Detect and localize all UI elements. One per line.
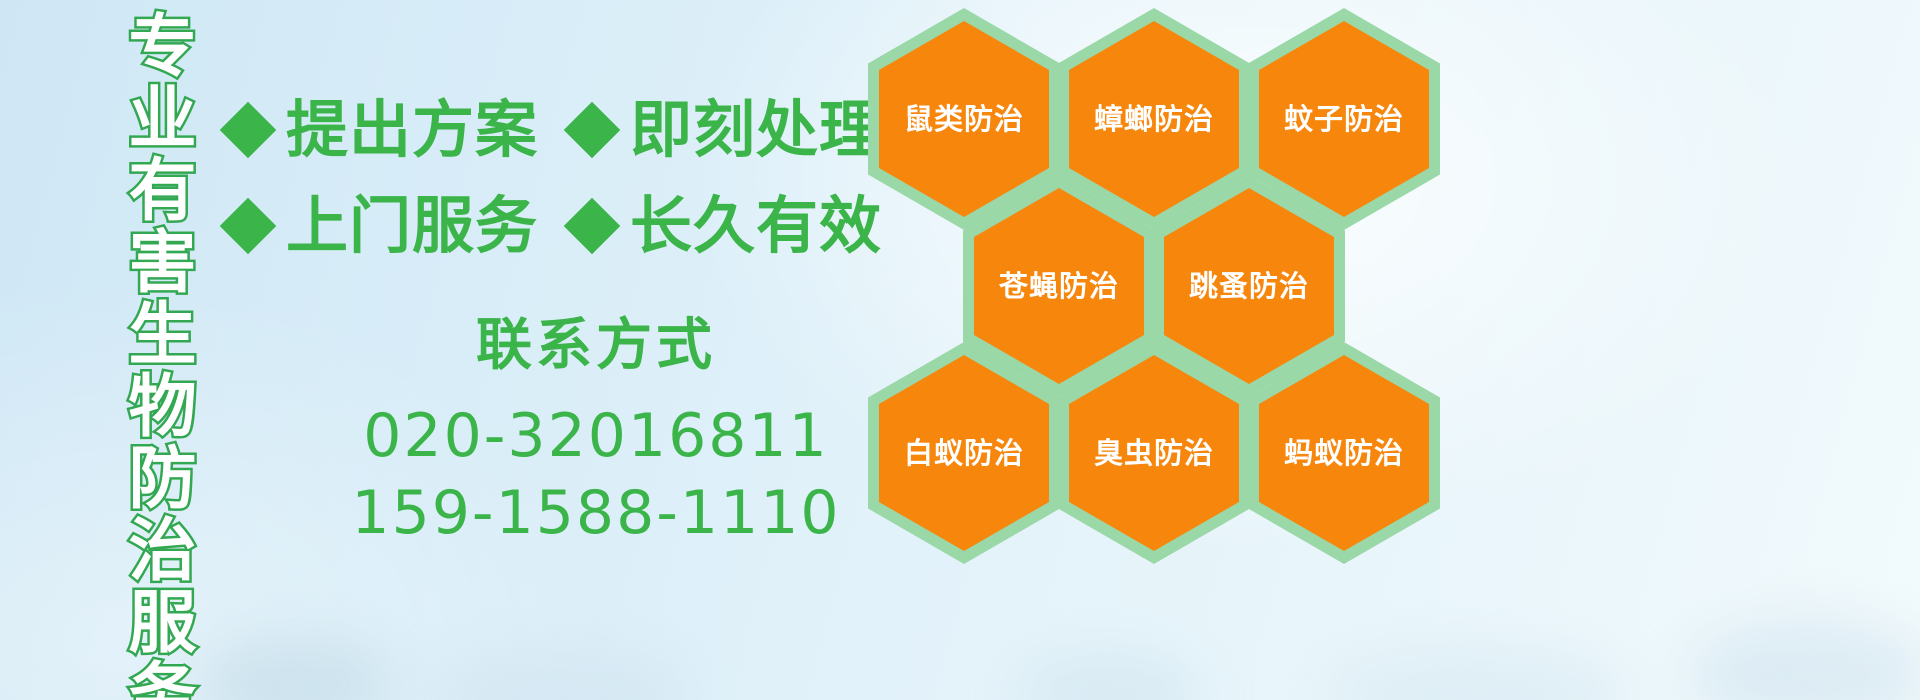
hex-inner: 蚂蚁防治 [1259, 355, 1429, 551]
service-hex-label: 跳蚤防治 [1189, 272, 1309, 301]
feature-label: 上门服务 [286, 195, 538, 257]
phone-number-landline[interactable]: 020-32016811 [316, 398, 876, 475]
diamond-bullet-icon [564, 198, 621, 255]
feature-row: 提出方案 即刻处理 [228, 82, 868, 178]
diamond-bullet-icon [220, 198, 277, 255]
service-hex-label: 蚂蚁防治 [1284, 439, 1404, 468]
service-hex-label: 鼠类防治 [904, 105, 1024, 134]
feature-label: 长久有效 [630, 195, 882, 257]
diamond-bullet-icon [564, 102, 621, 159]
background-blob [200, 640, 390, 700]
vertical-headline: 专业有害生物防治服务 [104, 10, 190, 670]
hex-inner: 鼠类防治 [879, 21, 1049, 217]
hex-inner: 苍蝇防治 [974, 188, 1144, 384]
feature-item: 即刻处理 [572, 99, 882, 161]
phone-number-mobile[interactable]: 159-1588-1110 [316, 475, 876, 552]
hex-inner: 白蚁防治 [879, 355, 1049, 551]
feature-item: 提出方案 [228, 99, 538, 161]
hex-inner: 蚊子防治 [1259, 21, 1429, 217]
service-hex-label: 臭虫防治 [1094, 439, 1214, 468]
background-blob [430, 655, 690, 700]
feature-item: 长久有效 [572, 195, 882, 257]
pest-control-service-banner: 专业有害生物防治服务 提出方案 即刻处理 上门服务 长久有效 联 [0, 0, 1920, 700]
service-hex-label: 蚊子防治 [1284, 105, 1404, 134]
hex-inner: 跳蚤防治 [1164, 188, 1334, 384]
hex-inner: 臭虫防治 [1069, 355, 1239, 551]
feature-label: 即刻处理 [630, 99, 882, 161]
service-honeycomb-grid: 鼠类防治 蟑螂防治 蚊子防治 苍蝇防治 跳蚤防治 白蚁防 [860, 0, 1460, 700]
service-hex-label: 蟑螂防治 [1094, 105, 1214, 134]
feature-list: 提出方案 即刻处理 上门服务 长久有效 [228, 82, 868, 274]
contact-title: 联系方式 [316, 318, 876, 374]
service-hex-label: 苍蝇防治 [999, 272, 1119, 301]
background-blob [1690, 620, 1920, 700]
diamond-bullet-icon [220, 102, 277, 159]
hex-inner: 蟑螂防治 [1069, 21, 1239, 217]
contact-block: 联系方式 020-32016811 159-1588-1110 [316, 318, 876, 552]
feature-item: 上门服务 [228, 195, 538, 257]
feature-row: 上门服务 长久有效 [228, 178, 868, 274]
feature-label: 提出方案 [286, 99, 538, 161]
service-hex-label: 白蚁防治 [904, 439, 1024, 468]
